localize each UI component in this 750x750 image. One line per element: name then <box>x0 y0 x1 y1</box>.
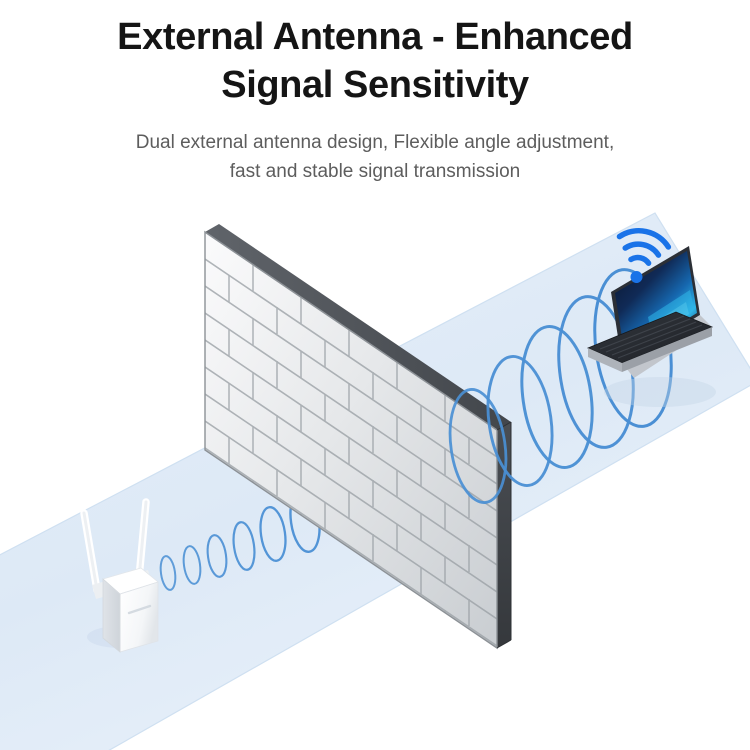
wall-side-face <box>497 422 511 648</box>
product-feature-banner: External Antenna - Enhanced Signal Sensi… <box>0 0 750 750</box>
headline-line-1: External Antenna - Enhanced <box>0 14 750 62</box>
subheadline: Dual external antenna design, Flexible a… <box>0 128 750 187</box>
subheadline-line-2: fast and stable signal transmission <box>0 157 750 186</box>
headline-line-2: Signal Sensitivity <box>0 62 750 110</box>
headline: External Antenna - Enhanced Signal Sensi… <box>0 14 750 110</box>
illustration-scene <box>0 0 750 750</box>
subheadline-line-1: Dual external antenna design, Flexible a… <box>0 128 750 157</box>
